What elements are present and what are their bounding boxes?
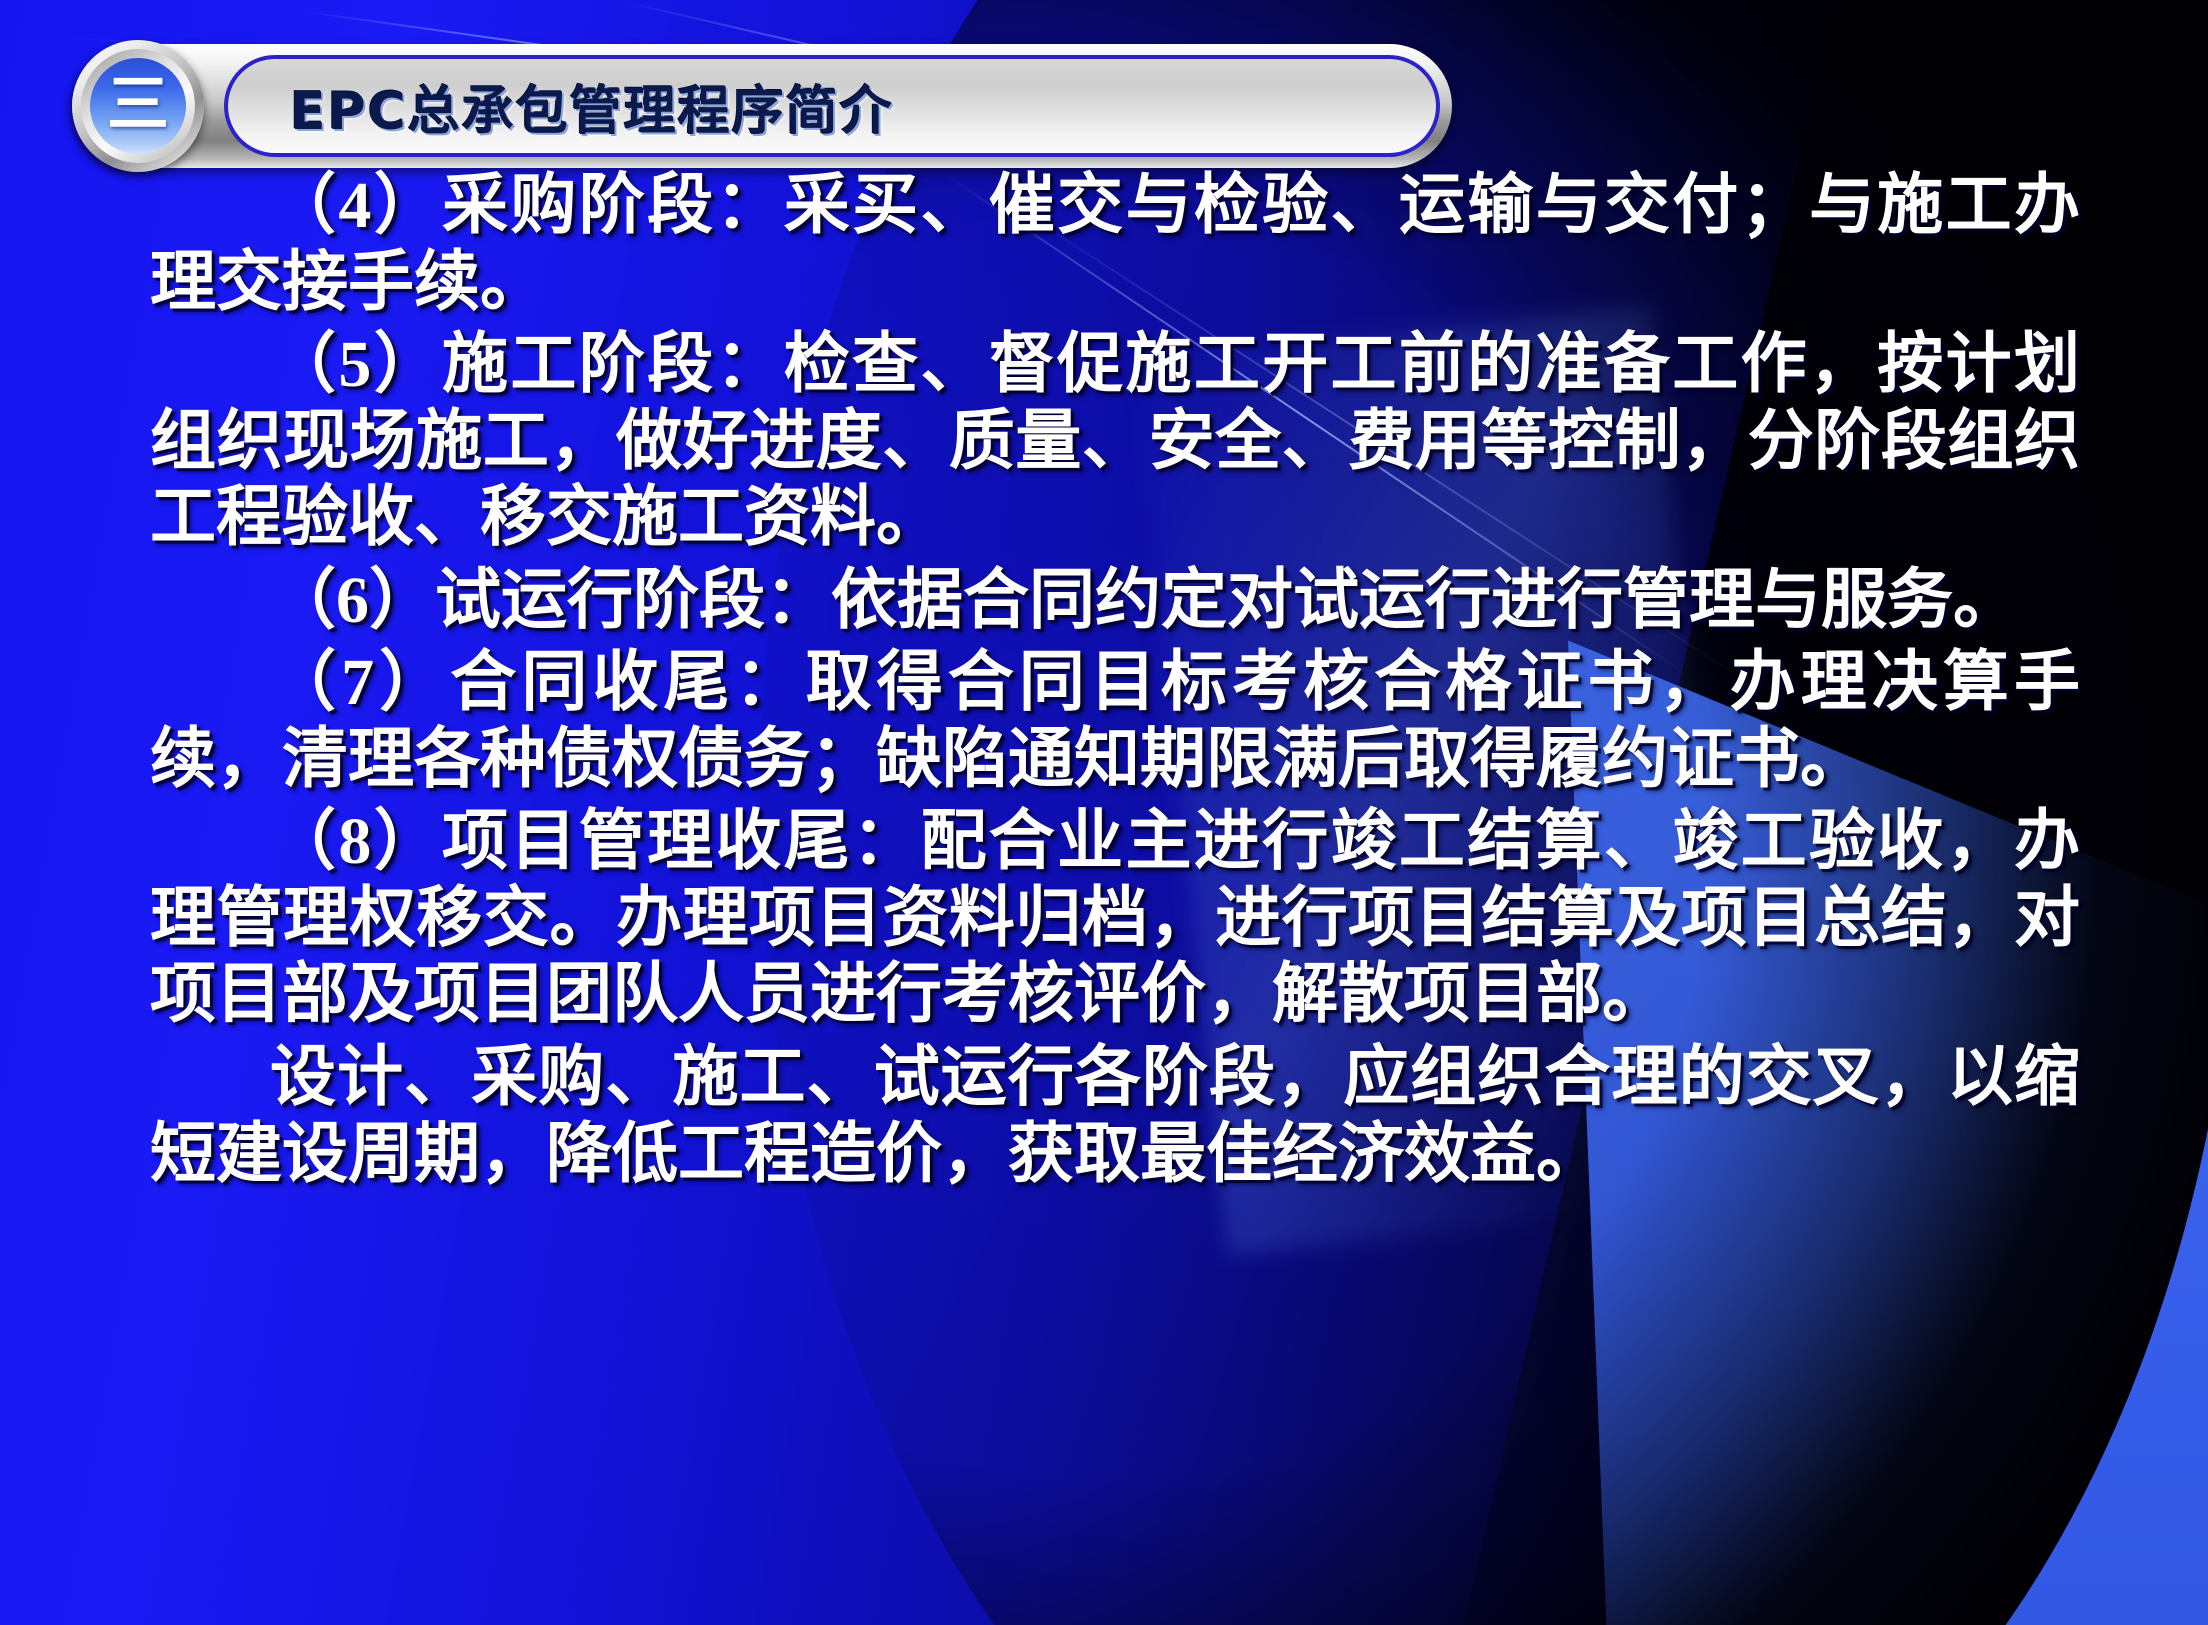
body-paragraph: 设计、采购、施工、试运行各阶段，应组织合理的交叉，以缩短建设周期，降低工程造价，… <box>150 1040 2080 1193</box>
three-character-icon: 三 <box>107 73 169 135</box>
page-title: EPC总承包管理程序简介 <box>290 69 894 144</box>
presentation-slide: EPC总承包管理程序简介 三 （4）采购阶段：采买、催交与检验、运输与交付；与施… <box>0 0 2208 1625</box>
slide-title-bar: EPC总承包管理程序简介 <box>224 55 1440 157</box>
body-paragraph: （8）项目管理收尾：配合业主进行竣工结算、竣工验收，办理管理权移交。办理项目资料… <box>150 804 2080 1034</box>
body-paragraph: （4）采购阶段：采买、催交与检验、运输与交付；与施工办理交接手续。 <box>150 168 2080 321</box>
slide-body: （4）采购阶段：采买、催交与检验、运输与交付；与施工办理交接手续。 （5）施工阶… <box>150 168 2080 1193</box>
section-number-badge: 三 <box>72 40 204 172</box>
body-paragraph: （7）合同收尾：取得合同目标考核合格证书，办理决算手续，清理各种债权债务；缺陷通… <box>150 645 2080 798</box>
slide-header: EPC总承包管理程序简介 三 <box>72 44 1452 168</box>
badge-inner-disc: 三 <box>90 58 186 154</box>
body-paragraph: （6）试运行阶段：依据合同约定对试运行进行管理与服务。 <box>150 563 2080 640</box>
body-paragraph: （5）施工阶段：检查、督促施工开工前的准备工作，按计划组织现场施工，做好进度、质… <box>150 327 2080 557</box>
